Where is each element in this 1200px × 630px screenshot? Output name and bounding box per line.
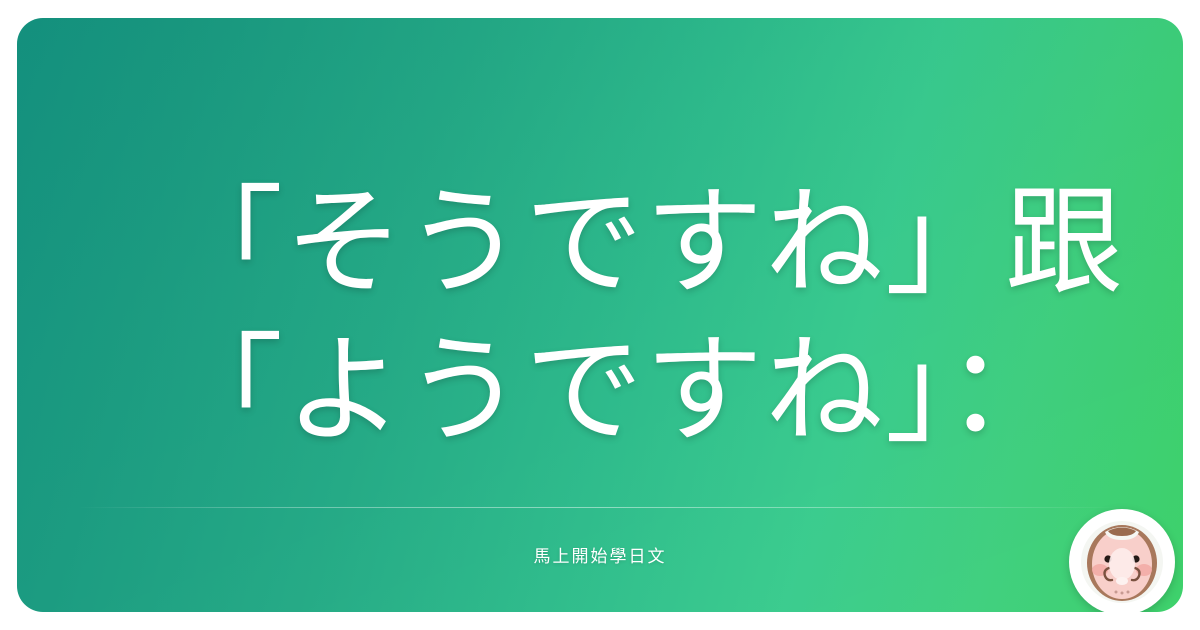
- headline-line-2: 「ようですね」：: [165, 316, 1173, 464]
- screenshot-canvas: 「そうですね」跟 「ようですね」： 馬上開始學日文: [0, 0, 1200, 630]
- horizontal-divider: [77, 507, 1123, 508]
- avatar[interactable]: [1069, 509, 1175, 612]
- headline-line-1: 「そうですね」跟: [165, 168, 1173, 316]
- footer-block: 馬上開始學日文: [17, 542, 1183, 567]
- footer-tagline: 馬上開始學日文: [534, 542, 667, 567]
- social-share-card: 「そうですね」跟 「ようですね」： 馬上開始學日文: [17, 18, 1183, 612]
- headline-block: 「そうですね」跟 「ようですね」：: [165, 168, 1173, 464]
- mascot-face-icon: [1078, 518, 1166, 606]
